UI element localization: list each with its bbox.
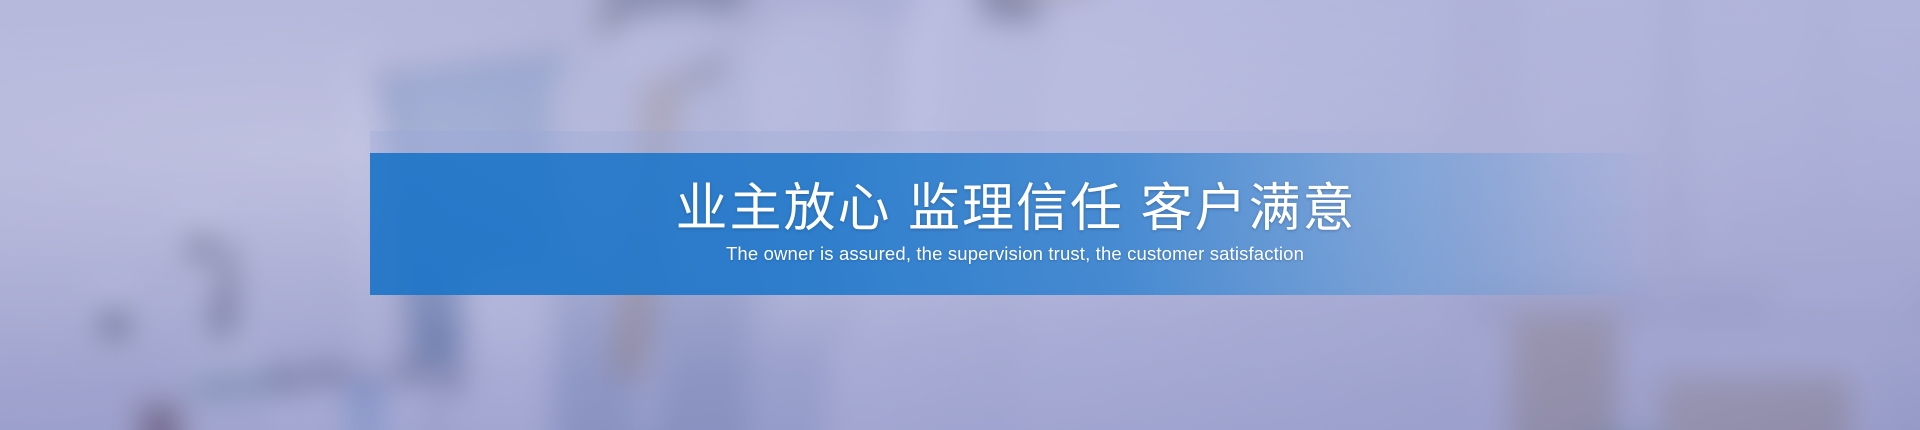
banner-subheadline: The owner is assured, the supervision tr… (726, 243, 1304, 265)
banner-text-block: 业主放心 监理信任 客户满意 The owner is assured, the… (370, 153, 1660, 295)
hero-banner: 业主放心 监理信任 客户满意 The owner is assured, the… (0, 0, 1920, 430)
banner-headline: 业主放心 监理信任 客户满意 (674, 182, 1357, 237)
band-top-highlight (370, 131, 1660, 154)
